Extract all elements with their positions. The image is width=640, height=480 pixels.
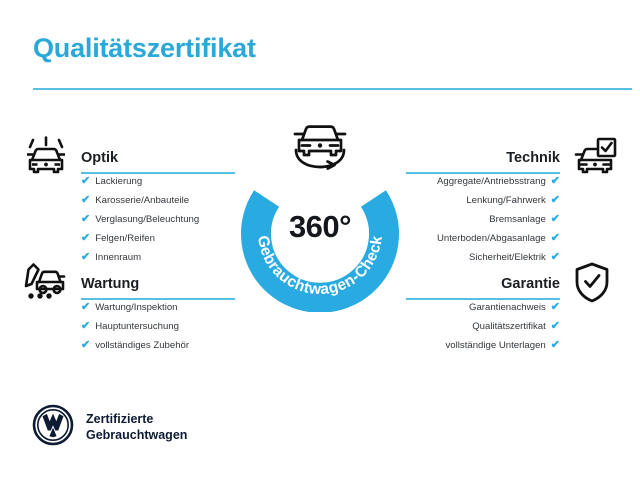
header-divider — [33, 88, 632, 90]
list-item-label: Bremsanlage — [489, 215, 546, 225]
list-item-label: vollständige Unterlagen — [446, 341, 546, 351]
list-item-label: vollständiges Zubehör — [95, 341, 189, 351]
section-wartung-title: Wartung — [81, 276, 139, 292]
car-shine-icon — [23, 136, 69, 183]
section-optik-divider — [81, 172, 235, 174]
certificate-page: Qualitätszertifikat — [0, 0, 640, 480]
section-garantie-title: Garantie — [501, 276, 560, 292]
car-rotate-360-icon — [280, 116, 360, 176]
check-icon: ✔ — [551, 176, 560, 187]
list-item-label: Unterboden/Abgasanlage — [437, 234, 546, 244]
section-wartung-list: ✔Wartung/Inspektion ✔Hauptuntersuchung ✔… — [81, 302, 235, 351]
section-wartung-header: Wartung — [81, 262, 235, 302]
section-optik-title: Optik — [81, 150, 118, 166]
check-icon: ✔ — [81, 302, 90, 313]
section-technik-header: Technik — [406, 136, 560, 176]
list-item-label: Qualitätszertifikat — [472, 322, 546, 332]
page-title: Qualitätszertifikat — [33, 33, 256, 64]
list-item-label: Lenkung/Fahrwerk — [466, 196, 545, 206]
section-garantie-divider — [406, 298, 560, 300]
check-icon: ✔ — [551, 340, 560, 351]
list-item: ✔Karosserie/Anbauteile — [81, 195, 235, 206]
section-garantie-list: Garantienachweis✔ Qualitätszertifikat✔ v… — [406, 302, 560, 351]
footer-text: Zertifizierte Gebrauchtwagen — [86, 412, 187, 443]
list-item: vollständige Unterlagen✔ — [406, 340, 560, 351]
section-garantie: Garantie Garantienachweis✔ Qualitätszert… — [406, 262, 560, 359]
list-item: Unterboden/Abgasanlage✔ — [406, 233, 560, 244]
list-item: ✔Wartung/Inspektion — [81, 302, 235, 313]
section-technik: Technik Aggregate/Antriebsstrang✔ Lenkun… — [406, 136, 560, 271]
check-icon: ✔ — [81, 321, 90, 332]
check-icon: ✔ — [551, 302, 560, 313]
check-icon: ✔ — [81, 340, 90, 351]
section-optik-header: Optik — [81, 136, 235, 176]
check-icon: ✔ — [81, 233, 90, 244]
list-item: ✔Verglasung/Beleuchtung — [81, 214, 235, 225]
check-icon: ✔ — [551, 195, 560, 206]
check-icon: ✔ — [81, 195, 90, 206]
section-technik-divider — [406, 172, 560, 174]
list-item: Garantienachweis✔ — [406, 302, 560, 313]
badge-360-gebrauchtwagen-check: Gebrauchtwagen-Check 360° — [240, 152, 400, 312]
car-service-pen-icon — [23, 262, 69, 309]
shield-check-icon — [572, 262, 612, 309]
list-item-label: Verglasung/Beleuchtung — [95, 215, 199, 225]
section-optik-list: ✔Lackierung ✔Karosserie/Anbauteile ✔Verg… — [81, 176, 235, 263]
check-icon: ✔ — [551, 233, 560, 244]
section-technik-title: Technik — [506, 150, 560, 166]
check-icon: ✔ — [551, 321, 560, 332]
list-item-label: Innenraum — [95, 253, 141, 263]
list-item: Qualitätszertifikat✔ — [406, 321, 560, 332]
badge-degrees: 360° — [240, 209, 400, 245]
list-item: ✔Hauptuntersuchung — [81, 321, 235, 332]
list-item: ✔Felgen/Reifen — [81, 233, 235, 244]
section-optik: Optik ✔Lackierung ✔Karosserie/Anbauteile… — [81, 136, 235, 271]
list-item-label: Lackierung — [95, 177, 142, 187]
car-checkbox-icon — [572, 136, 618, 183]
list-item: ✔vollständiges Zubehör — [81, 340, 235, 351]
volkswagen-logo-icon — [32, 404, 74, 451]
section-wartung: Wartung ✔Wartung/Inspektion ✔Hauptunters… — [81, 262, 235, 359]
list-item-label: Aggregate/Antriebsstrang — [437, 177, 546, 187]
list-item: Lenkung/Fahrwerk✔ — [406, 195, 560, 206]
list-item-label: Hauptuntersuchung — [95, 322, 179, 332]
check-icon: ✔ — [81, 176, 90, 187]
list-item: ✔Lackierung — [81, 176, 235, 187]
list-item-label: Felgen/Reifen — [95, 234, 155, 244]
list-item-label: Wartung/Inspektion — [95, 303, 177, 313]
footer-branding: Zertifizierte Gebrauchtwagen — [32, 404, 187, 451]
list-item: Aggregate/Antriebsstrang✔ — [406, 176, 560, 187]
section-technik-list: Aggregate/Antriebsstrang✔ Lenkung/Fahrwe… — [406, 176, 560, 263]
check-icon: ✔ — [81, 214, 90, 225]
section-wartung-divider — [81, 298, 235, 300]
check-icon: ✔ — [551, 214, 560, 225]
list-item-label: Karosserie/Anbauteile — [95, 196, 189, 206]
list-item-label: Sicherheit/Elektrik — [469, 253, 546, 263]
list-item: Bremsanlage✔ — [406, 214, 560, 225]
list-item-label: Garantienachweis — [469, 303, 546, 313]
section-garantie-header: Garantie — [406, 262, 560, 302]
